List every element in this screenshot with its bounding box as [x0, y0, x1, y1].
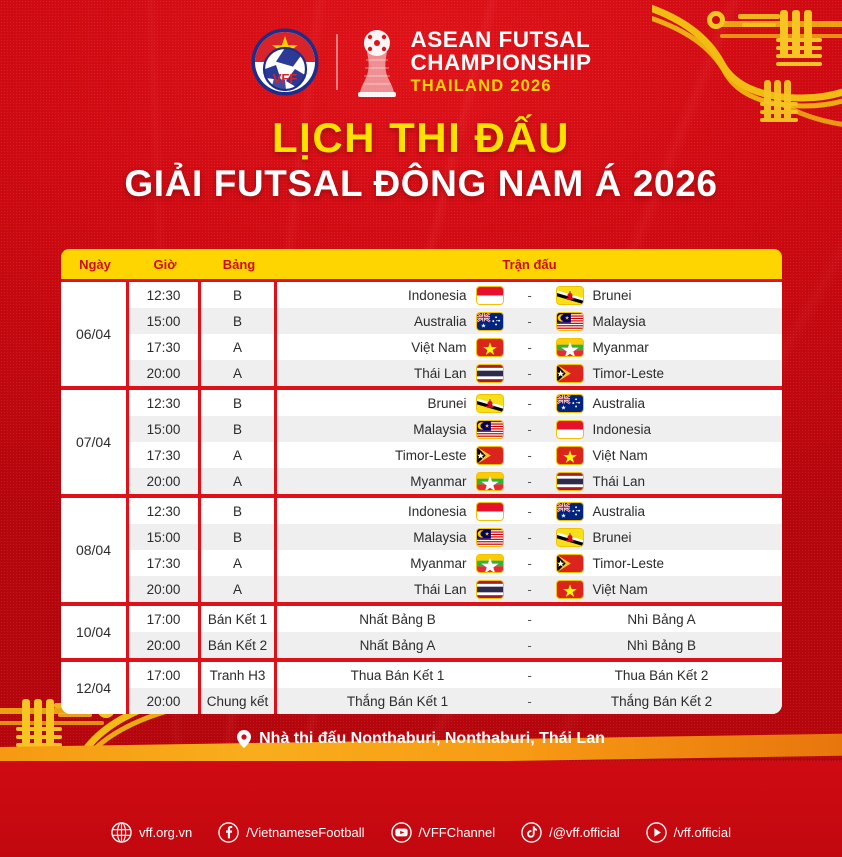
home-team-name: Thái Lan [414, 582, 467, 597]
away-team-name: Việt Nam [593, 582, 648, 597]
match-separator: - [504, 474, 556, 489]
table-row[interactable]: 12:30BBrunei-Australia [129, 390, 782, 416]
match-group: A [201, 334, 277, 360]
away-team-name: Thua Bán Kết 2 [615, 668, 709, 683]
flag-timorleste-icon [476, 446, 504, 465]
match-group: Chung kết [201, 688, 277, 714]
table-header-row: Ngày Giờ Bảng Trận đấu [61, 249, 782, 279]
match-cell: Indonesia-Australia [277, 498, 782, 524]
away-team: Thắng Bán Kết 2 [556, 694, 768, 709]
flag-brunei-icon [556, 528, 584, 547]
away-team-name: Thắng Bán Kết 2 [611, 694, 712, 709]
match-group: B [201, 524, 277, 550]
match-cell: Timor-Leste-Việt Nam [277, 442, 782, 468]
flag-myanmar-icon [476, 554, 504, 573]
home-team: Thua Bán Kết 1 [292, 668, 504, 683]
home-team-name: Brunei [427, 396, 466, 411]
date-block: 07/0412:30BBrunei-Australia15:00BMalaysi… [61, 386, 782, 494]
flag-brunei-icon [556, 286, 584, 305]
match-cell: Nhất Bảng B-Nhì Bảng A [277, 606, 782, 632]
location-pin-icon [237, 730, 251, 748]
poster-root: VFF [0, 0, 842, 857]
flag-myanmar-icon [476, 472, 504, 491]
social-link-label: /VFFChannel [419, 825, 496, 840]
header-logo-row: VFF [0, 26, 842, 98]
match-time: 15:00 [129, 416, 201, 442]
footer-social-links: vff.org.vn/VietnameseFootball/VFFChannel… [0, 822, 842, 843]
match-time: 20:00 [129, 688, 201, 714]
date-cell: 10/04 [61, 606, 129, 658]
home-team-name: Malaysia [413, 422, 466, 437]
match-group: B [201, 390, 277, 416]
match-separator: - [504, 582, 556, 597]
match-time: 20:00 [129, 576, 201, 602]
flag-malaysia-icon [476, 420, 504, 439]
away-team: Nhì Bảng A [556, 612, 768, 627]
table-row[interactable]: 17:30AViệt Nam-Myanmar [129, 334, 782, 360]
away-team-name: Timor-Leste [593, 366, 665, 381]
home-team: Thái Lan [292, 580, 504, 599]
flag-thailand-icon [556, 472, 584, 491]
date-cell: 07/04 [61, 390, 129, 494]
match-separator: - [504, 366, 556, 381]
home-team-name: Myanmar [410, 556, 466, 571]
home-team: Nhất Bảng B [292, 612, 504, 627]
home-team: Timor-Leste [292, 446, 504, 465]
match-cell: Thái Lan-Timor-Leste [277, 360, 782, 386]
column-header-group: Bảng [201, 257, 277, 272]
match-cell: Thua Bán Kết 1-Thua Bán Kết 2 [277, 662, 782, 688]
table-row[interactable]: 20:00AMyanmar-Thái Lan [129, 468, 782, 494]
flag-indonesia-icon [476, 502, 504, 521]
home-team: Nhất Bảng A [292, 638, 504, 653]
home-team-name: Việt Nam [411, 340, 466, 355]
home-team: Việt Nam [292, 338, 504, 357]
away-team-name: Australia [593, 396, 646, 411]
away-team-name: Indonesia [593, 422, 652, 437]
away-team: Việt Nam [556, 446, 768, 465]
flag-myanmar-icon [556, 338, 584, 357]
away-team: Myanmar [556, 338, 768, 357]
match-time: 15:00 [129, 308, 201, 334]
away-team-name: Nhì Bảng A [627, 612, 695, 627]
match-group: B [201, 308, 277, 334]
away-team-name: Thái Lan [593, 474, 646, 489]
match-cell: Brunei-Australia [277, 390, 782, 416]
table-row[interactable]: 17:30ATimor-Leste-Việt Nam [129, 442, 782, 468]
match-group: Tranh H3 [201, 662, 277, 688]
flag-australia-icon [556, 502, 584, 521]
date-block: 12/0417:00Tranh H3Thua Bán Kết 1-Thua Bá… [61, 658, 782, 714]
flag-malaysia-icon [556, 312, 584, 331]
home-team: Thái Lan [292, 364, 504, 383]
date-cell: 08/04 [61, 498, 129, 602]
table-row[interactable]: 12:30BIndonesia-Australia [129, 498, 782, 524]
match-group: Bán Kết 1 [201, 606, 277, 632]
social-link-label: /VietnameseFootball [246, 825, 364, 840]
date-cell: 06/04 [61, 282, 129, 386]
home-team: Australia [292, 312, 504, 331]
flag-indonesia-icon [556, 420, 584, 439]
venue-text: Nhà thi đấu Nonthaburi, Nonthaburi, Thái… [259, 730, 605, 748]
social-link-label: vff.org.vn [139, 825, 192, 840]
vff-logo-icon: VFF [250, 26, 320, 98]
match-cell: Việt Nam-Myanmar [277, 334, 782, 360]
home-team: Thắng Bán Kết 1 [292, 694, 504, 709]
flag-vietnam-icon [556, 446, 584, 465]
match-separator: - [504, 448, 556, 463]
match-separator: - [504, 340, 556, 355]
match-separator: - [504, 288, 556, 303]
venue-line: Nhà thi đấu Nonthaburi, Nonthaburi, Thái… [0, 730, 842, 748]
match-separator: - [504, 556, 556, 571]
away-team-name: Brunei [593, 288, 632, 303]
date-block: 10/0417:00Bán Kết 1Nhất Bảng B-Nhì Bảng … [61, 602, 782, 658]
date-block-rows: 17:00Tranh H3Thua Bán Kết 1-Thua Bán Kết… [129, 662, 782, 714]
match-cell: Indonesia-Brunei [277, 282, 782, 308]
away-team: Nhì Bảng B [556, 638, 768, 653]
match-time: 12:30 [129, 498, 201, 524]
match-time: 12:30 [129, 282, 201, 308]
social-link-label: /vff.official [674, 825, 731, 840]
match-group: A [201, 442, 277, 468]
date-block-rows: 12:30BBrunei-Australia15:00BMalaysia-Ind… [129, 390, 782, 494]
flag-thailand-icon [476, 580, 504, 599]
match-cell: Myanmar-Thái Lan [277, 468, 782, 494]
away-team: Australia [556, 394, 768, 413]
table-row[interactable]: 15:00BAustralia-Malaysia [129, 308, 782, 334]
home-team-name: Nhất Bảng A [360, 638, 436, 653]
match-group: B [201, 498, 277, 524]
table-row[interactable]: 12:30BIndonesia-Brunei [129, 282, 782, 308]
table-row[interactable]: 15:00BMalaysia-Brunei [129, 524, 782, 550]
home-team-name: Indonesia [408, 288, 467, 303]
match-group: A [201, 576, 277, 602]
match-separator: - [504, 314, 556, 329]
social-link-youtube[interactable]: /VFFChannel [391, 822, 496, 843]
social-link-label: /@vff.official [549, 825, 620, 840]
table-row[interactable]: 20:00AThái Lan-Timor-Leste [129, 360, 782, 386]
match-time: 12:30 [129, 390, 201, 416]
social-link-facebook[interactable]: /VietnameseFootball [218, 822, 364, 843]
match-time: 17:30 [129, 550, 201, 576]
match-separator: - [504, 694, 556, 709]
home-team-name: Timor-Leste [395, 448, 467, 463]
page-title-line1: LỊCH THI ĐẤU [0, 114, 842, 162]
home-team: Myanmar [292, 554, 504, 573]
date-block: 06/0412:30BIndonesia-Brunei15:00BAustral… [61, 279, 782, 386]
championship-lockup: ASEAN FUTSAL CHAMPIONSHIP THAILAND 2026 [354, 26, 591, 98]
flag-indonesia-icon [476, 286, 504, 305]
flag-vietnam-icon [476, 338, 504, 357]
match-cell: Australia-Malaysia [277, 308, 782, 334]
date-block-rows: 12:30BIndonesia-Australia15:00BMalaysia-… [129, 498, 782, 602]
match-cell: Nhất Bảng A-Nhì Bảng B [277, 632, 782, 658]
logo-divider [336, 34, 338, 90]
away-team-name: Brunei [593, 530, 632, 545]
date-block-rows: 12:30BIndonesia-Brunei15:00BAustralia-Ma… [129, 282, 782, 386]
social-link-globe[interactable]: vff.org.vn [111, 822, 192, 843]
table-row[interactable]: 17:00Bán Kết 1Nhất Bảng B-Nhì Bảng A [129, 606, 782, 632]
flag-brunei-icon [476, 394, 504, 413]
match-cell: Thắng Bán Kết 1-Thắng Bán Kết 2 [277, 688, 782, 714]
away-team: Việt Nam [556, 580, 768, 599]
match-cell: Myanmar-Timor-Leste [277, 550, 782, 576]
match-group: A [201, 360, 277, 386]
home-team-name: Indonesia [408, 504, 467, 519]
table-row[interactable]: 17:30AMyanmar-Timor-Leste [129, 550, 782, 576]
home-team-name: Australia [414, 314, 467, 329]
column-header-time: Giờ [129, 257, 201, 272]
date-block: 08/0412:30BIndonesia-Australia15:00BMala… [61, 494, 782, 602]
away-team: Thua Bán Kết 2 [556, 668, 768, 683]
away-team-name: Timor-Leste [593, 556, 665, 571]
social-link-tiktok[interactable]: /@vff.official [521, 822, 620, 843]
championship-line1: ASEAN FUTSAL [410, 29, 591, 52]
date-cell: 12/04 [61, 662, 129, 714]
facebook-icon [218, 822, 239, 843]
table-row[interactable]: 20:00Chung kếtThắng Bán Kết 1-Thắng Bán … [129, 688, 782, 714]
date-block-rows: 17:00Bán Kết 1Nhất Bảng B-Nhì Bảng A20:0… [129, 606, 782, 658]
match-group: A [201, 550, 277, 576]
flag-thailand-icon [476, 364, 504, 383]
home-team: Indonesia [292, 502, 504, 521]
column-header-date: Ngày [61, 257, 129, 272]
match-time: 20:00 [129, 632, 201, 658]
match-group: B [201, 416, 277, 442]
match-separator: - [504, 396, 556, 411]
column-header-match: Trận đấu [277, 257, 782, 272]
match-time: 17:30 [129, 334, 201, 360]
away-team-name: Nhì Bảng B [627, 638, 696, 653]
match-group: Bán Kết 2 [201, 632, 277, 658]
away-team: Thái Lan [556, 472, 768, 491]
table-row[interactable]: 15:00BMalaysia-Indonesia [129, 416, 782, 442]
match-separator: - [504, 668, 556, 683]
match-group: A [201, 468, 277, 494]
flag-australia-icon [476, 312, 504, 331]
home-team-name: Thái Lan [414, 366, 467, 381]
match-separator: - [504, 530, 556, 545]
away-team: Brunei [556, 286, 768, 305]
home-team: Indonesia [292, 286, 504, 305]
away-team-name: Malaysia [593, 314, 646, 329]
match-group: B [201, 282, 277, 308]
championship-line3: THAILAND 2026 [410, 78, 591, 95]
away-team: Brunei [556, 528, 768, 547]
table-body: 06/0412:30BIndonesia-Brunei15:00BAustral… [61, 279, 782, 714]
home-team-name: Nhất Bảng B [359, 612, 436, 627]
tiktok-icon [521, 822, 542, 843]
flag-timorleste-icon [556, 554, 584, 573]
away-team: Australia [556, 502, 768, 521]
home-team-name: Malaysia [413, 530, 466, 545]
match-time: 17:30 [129, 442, 201, 468]
match-time: 17:00 [129, 606, 201, 632]
match-time: 17:00 [129, 662, 201, 688]
globe-icon [111, 822, 132, 843]
match-time: 20:00 [129, 468, 201, 494]
match-separator: - [504, 504, 556, 519]
table-row[interactable]: 17:00Tranh H3Thua Bán Kết 1-Thua Bán Kết… [129, 662, 782, 688]
flag-australia-icon [556, 394, 584, 413]
home-team: Malaysia [292, 528, 504, 547]
home-team-name: Thua Bán Kết 1 [351, 668, 445, 683]
away-team: Timor-Leste [556, 554, 768, 573]
youtube-icon [391, 822, 412, 843]
flag-timorleste-icon [556, 364, 584, 383]
match-cell: Malaysia-Indonesia [277, 416, 782, 442]
table-row[interactable]: 20:00Bán Kết 2Nhất Bảng A-Nhì Bảng B [129, 632, 782, 658]
match-time: 20:00 [129, 360, 201, 386]
match-cell: Malaysia-Brunei [277, 524, 782, 550]
home-team: Myanmar [292, 472, 504, 491]
away-team: Indonesia [556, 420, 768, 439]
championship-line2: CHAMPIONSHIP [410, 52, 591, 75]
table-row[interactable]: 20:00AThái Lan-Việt Nam [129, 576, 782, 602]
away-team-name: Việt Nam [593, 448, 648, 463]
away-team-name: Myanmar [593, 340, 649, 355]
play-icon [646, 822, 667, 843]
flag-malaysia-icon [476, 528, 504, 547]
page-title-line2: GIẢI FUTSAL ĐÔNG NAM Á 2026 [0, 163, 842, 205]
flag-vietnam-icon [556, 580, 584, 599]
home-team-name: Thắng Bán Kết 1 [347, 694, 448, 709]
match-separator: - [504, 638, 556, 653]
away-team: Malaysia [556, 312, 768, 331]
match-time: 15:00 [129, 524, 201, 550]
match-separator: - [504, 612, 556, 627]
schedule-table: Ngày Giờ Bảng Trận đấu 06/0412:30BIndone… [61, 249, 782, 714]
match-separator: - [504, 422, 556, 437]
match-cell: Thái Lan-Việt Nam [277, 576, 782, 602]
away-team-name: Australia [593, 504, 646, 519]
trophy-icon [354, 26, 400, 98]
social-link-play[interactable]: /vff.official [646, 822, 731, 843]
away-team: Timor-Leste [556, 364, 768, 383]
home-team-name: Myanmar [410, 474, 466, 489]
svg-text:VFF: VFF [273, 71, 298, 86]
home-team: Brunei [292, 394, 504, 413]
home-team: Malaysia [292, 420, 504, 439]
